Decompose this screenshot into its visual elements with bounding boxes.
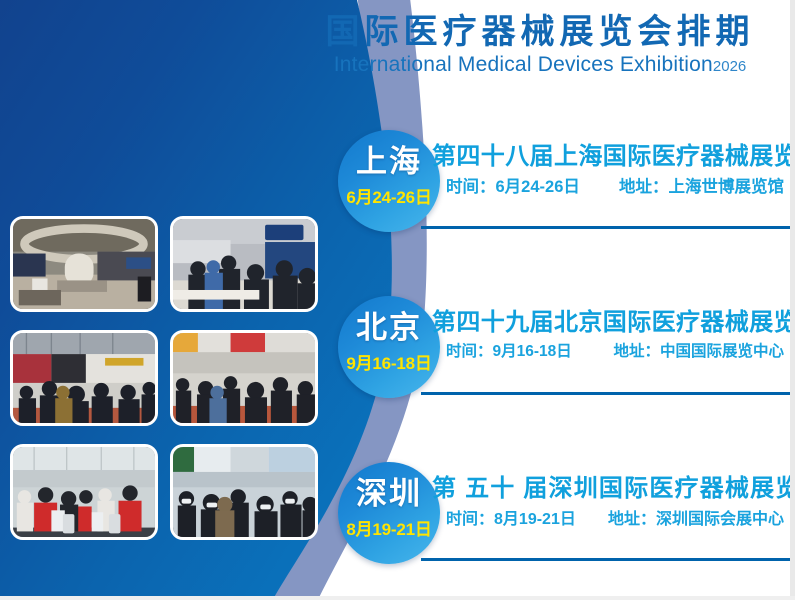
address-value: 上海世博展览馆	[669, 178, 785, 196]
time-value: 9月16-18日	[493, 343, 572, 360]
header-title-en: International Medical Devices Exhibition	[334, 53, 713, 76]
event-title: 第四十八届上海国际医疗器械展览会	[432, 136, 795, 171]
time-label: 时间：	[446, 343, 493, 360]
canvas-bottom-edge	[0, 596, 795, 600]
event-address: 地址：上海世博展览馆	[619, 173, 784, 197]
badge-city-name: 上海	[338, 145, 440, 179]
event-row-beijing[interactable]: 北京 9月16-18日 第四十九届北京国际医疗器械展览会 地址：中国国际展览中心…	[0, 292, 795, 402]
address-value: 深圳国际会展中心	[656, 511, 784, 528]
badge-city-name: 深圳	[338, 477, 440, 511]
city-badge-shanghai[interactable]: 上海 6月24-26日	[338, 130, 440, 232]
badge-date: 9月16-18日	[338, 353, 440, 375]
event-title: 第四十九届北京国际医疗器械展览会	[432, 302, 795, 337]
event-row-shanghai[interactable]: 上海 6月24-26日 第四十八届上海国际医疗器械展览会 地址：上海世博展览馆 …	[0, 126, 795, 236]
city-badge-shenzhen[interactable]: 深圳 8月19-21日	[338, 462, 440, 564]
poster-canvas: 国际医疗器械展览会排期 International Medical Device…	[0, 0, 795, 600]
event-title: 第 五十 届深圳国际医疗器械展览会	[432, 468, 795, 503]
address-label: 地址：	[608, 511, 656, 528]
event-address: 地址：中国国际展览中心	[613, 339, 784, 361]
header-year: 2026	[713, 58, 746, 75]
address-value: 中国国际展览中心	[660, 343, 784, 360]
city-badge-beijing[interactable]: 北京 9月16-18日	[338, 296, 440, 398]
badge-city-name: 北京	[338, 311, 440, 345]
address-label: 地址：	[619, 178, 669, 196]
address-label: 地址：	[613, 343, 660, 360]
row-divider	[421, 392, 790, 395]
poster-header: 国际医疗器械展览会排期 International Medical Device…	[300, 12, 780, 77]
time-value: 6月24-26日	[496, 178, 580, 196]
header-title-cn: 国际医疗器械展览会排期	[300, 12, 780, 52]
time-label: 时间：	[446, 511, 494, 528]
badge-date: 8月19-21日	[338, 519, 440, 541]
event-row-shenzhen[interactable]: 深圳 8月19-21日 第 五十 届深圳国际医疗器械展览会 地址：深圳国际会展中…	[0, 458, 795, 568]
event-time: 时间：9月16-18日	[446, 339, 572, 361]
event-time: 时间：6月24-26日	[446, 173, 580, 197]
event-details: 地址：深圳国际会展中心 时间：8月19-21日	[446, 505, 784, 529]
time-value: 8月19-21日	[494, 511, 576, 528]
event-details: 地址：中国国际展览中心 时间：9月16-18日	[446, 339, 784, 361]
header-subtitle-row: International Medical Devices Exhibition…	[300, 53, 780, 77]
badge-date: 6月24-26日	[338, 187, 440, 209]
event-time: 时间：8月19-21日	[446, 505, 576, 529]
event-address: 地址：深圳国际会展中心	[608, 505, 784, 529]
row-divider	[421, 558, 790, 561]
canvas-right-edge	[790, 0, 795, 600]
time-label: 时间：	[446, 178, 496, 196]
row-divider	[421, 226, 790, 229]
event-details: 地址：上海世博展览馆 时间：6月24-26日	[446, 173, 784, 197]
